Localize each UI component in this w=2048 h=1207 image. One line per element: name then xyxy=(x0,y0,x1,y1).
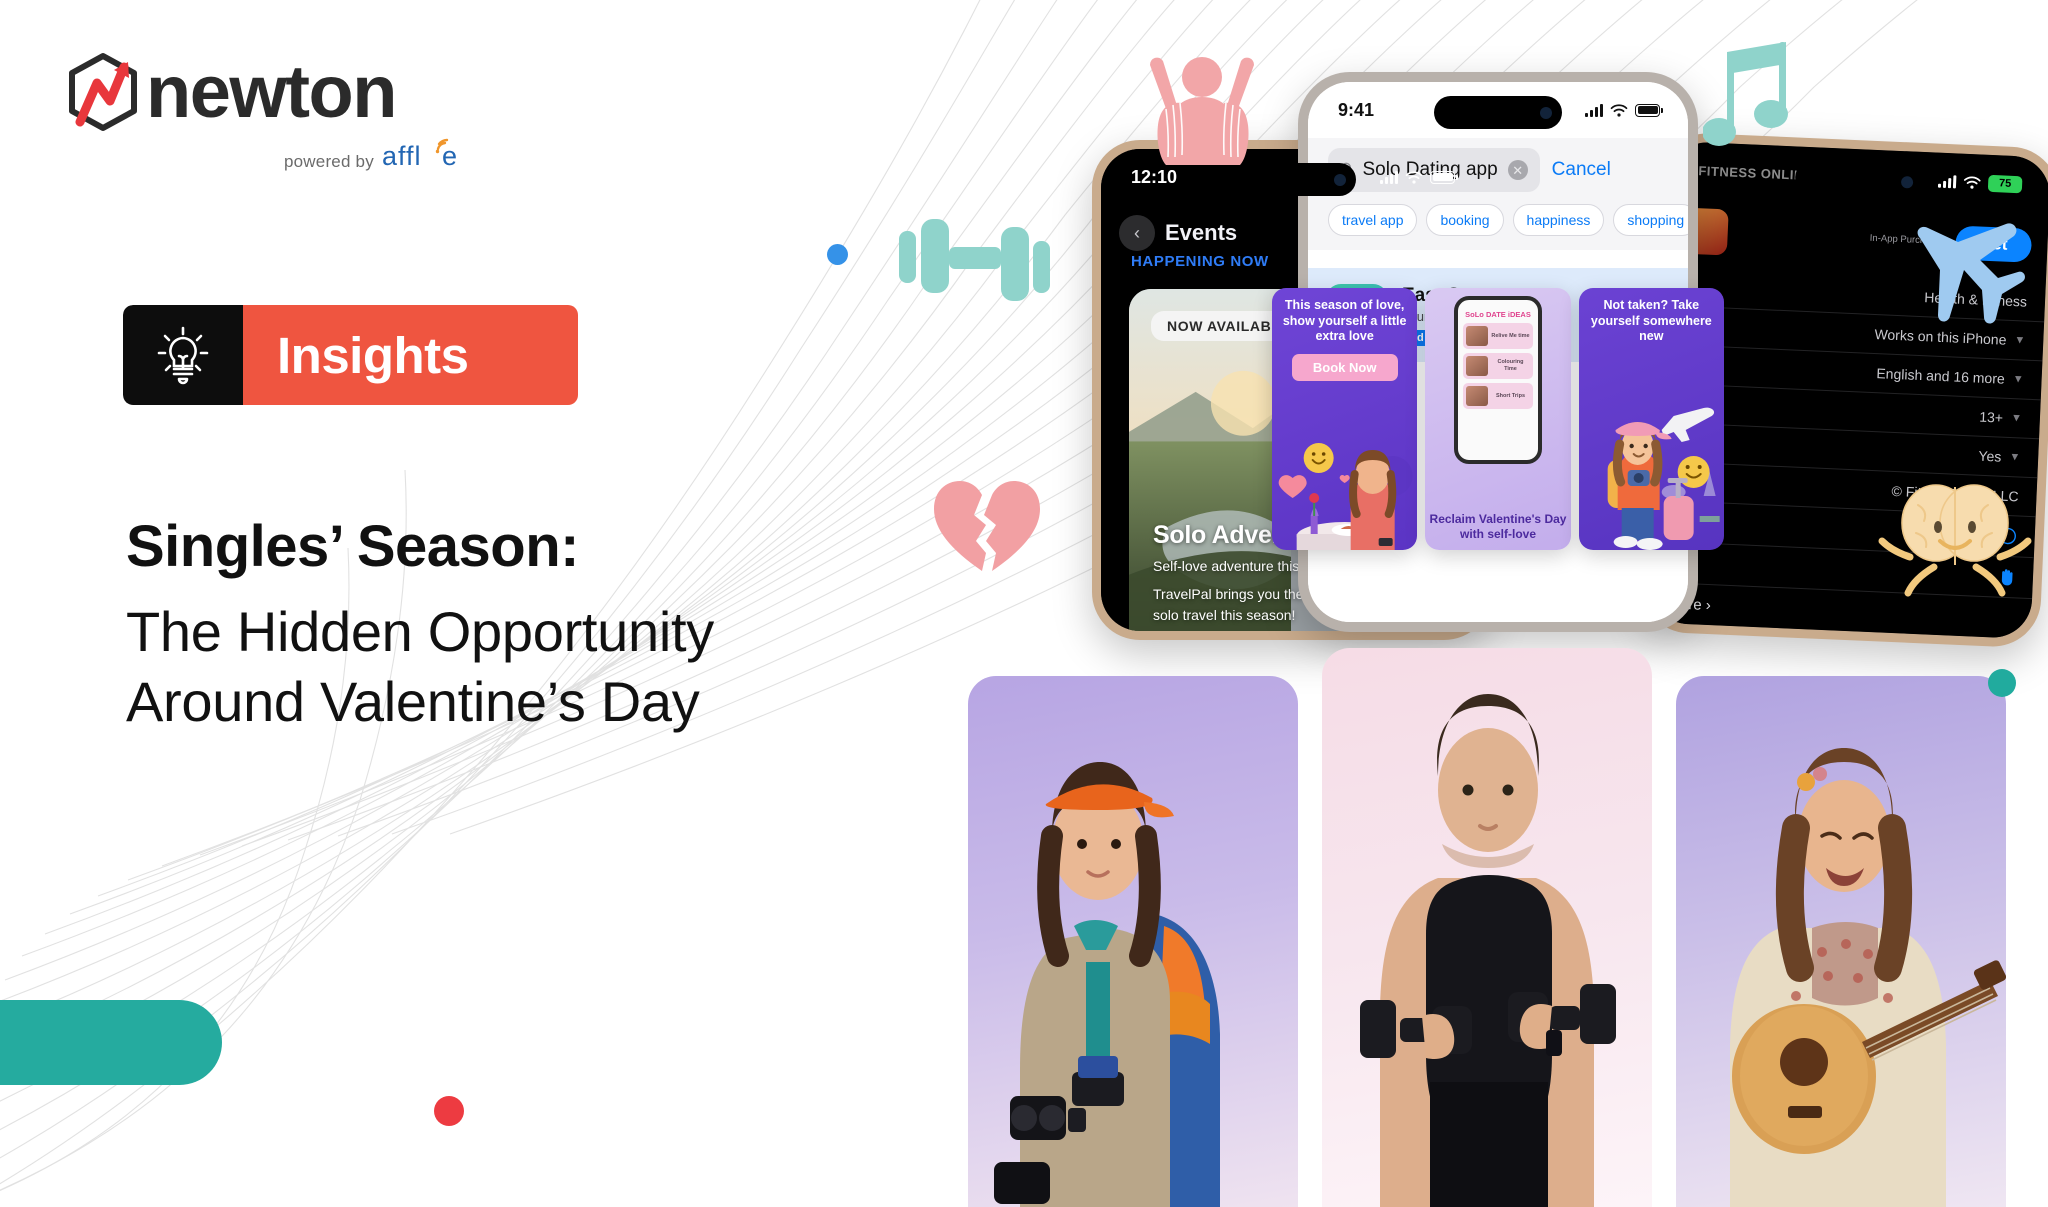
row-value: Yes xyxy=(1978,448,2002,465)
row-value: English and 16 more xyxy=(1876,365,2005,387)
meditating-brain-icon xyxy=(1878,475,2033,605)
woman-dining-alone-illustration xyxy=(1272,430,1417,550)
broken-heart-icon xyxy=(930,475,1040,575)
newton-hexagon-arrow-logo-icon xyxy=(66,52,140,132)
friends-celebrating-icon xyxy=(1120,25,1285,165)
headline-line-2: The Hidden Opportunity xyxy=(126,597,886,668)
cellular-signal-icon xyxy=(1585,104,1603,117)
battery-icon xyxy=(1430,171,1455,184)
chevron-down-icon: ▼ xyxy=(2011,412,2022,424)
chevron-down-icon: ▼ xyxy=(2014,334,2025,346)
cellular-signal-icon xyxy=(1380,171,1398,184)
creative-card-date-ideas[interactable]: SoLo DATE iDEAS Relive Me time Colouring… xyxy=(1425,288,1570,550)
logo-wordmark: newton xyxy=(146,55,396,129)
item-label: Relive Me time xyxy=(1491,333,1530,340)
item-thumbnail xyxy=(1466,326,1488,346)
photo-card-musician xyxy=(1676,676,2006,1207)
cancel-button[interactable]: Cancel xyxy=(1552,159,1611,181)
powered-by-row: powered by affl e xyxy=(284,138,478,172)
page-title: Singles’ Season: The Hidden Opportunity … xyxy=(126,512,886,738)
insights-badge-label: Insights xyxy=(243,305,578,405)
musician-photo xyxy=(1676,676,2006,1207)
photo-card-fitness xyxy=(1322,648,1652,1207)
list-item[interactable]: Relive Me time xyxy=(1463,323,1533,349)
female-traveller-illustration xyxy=(1579,400,1724,550)
search-suggestion-chips: travel app booking happiness shopping on… xyxy=(1328,204,1668,236)
svg-text:e: e xyxy=(442,141,457,171)
red-dot-decoration xyxy=(434,1096,464,1126)
book-now-button[interactable]: Book Now xyxy=(1292,354,1398,381)
item-thumbnail xyxy=(1466,386,1488,406)
clear-circle-icon[interactable]: ✕ xyxy=(1508,160,1528,180)
list-item[interactable]: Colouring Time xyxy=(1463,353,1533,379)
chip-booking[interactable]: booking xyxy=(1426,204,1503,236)
creative-card-travel[interactable]: Not taken? Take yourself somewhere new xyxy=(1579,288,1724,550)
chevron-down-icon: ▼ xyxy=(2012,373,2023,385)
svg-text:affl: affl xyxy=(382,141,422,171)
battery-icon xyxy=(1635,104,1660,117)
creative-footer-text: Reclaim Valentine's Day with self-love xyxy=(1425,512,1570,542)
photo-card-traveller xyxy=(968,676,1298,1207)
chip-travel-app[interactable]: travel app xyxy=(1328,204,1417,236)
creative-headline: This season of love, show yourself a lit… xyxy=(1280,298,1409,345)
item-label: Colouring Time xyxy=(1491,359,1530,373)
phone-left-title: Events xyxy=(1165,220,1237,246)
poster-canvas: newton powered by affl e xyxy=(0,0,2048,1207)
phone-notch xyxy=(1228,163,1356,196)
fitness-photo xyxy=(1322,648,1652,1207)
row-value: 13+ xyxy=(1979,409,2003,426)
airplane-icon xyxy=(1910,212,2035,332)
teal-dot-decoration xyxy=(1988,669,2016,697)
creative-card-self-love[interactable]: This season of love, show yourself a lit… xyxy=(1272,288,1417,550)
mini-phone-title: SoLo DATE iDEAS xyxy=(1458,310,1538,319)
lightbulb-icon xyxy=(152,322,214,388)
wifi-icon xyxy=(1963,175,1982,189)
chip-shopping[interactable]: shopping xyxy=(1613,204,1698,236)
item-label: Short Trips xyxy=(1491,393,1530,400)
chip-happiness[interactable]: happiness xyxy=(1513,204,1605,236)
phone-notch xyxy=(1434,96,1562,129)
music-note-icon xyxy=(1703,38,1813,158)
item-thumbnail xyxy=(1466,356,1488,376)
ad-creative-cards: This season of love, show yourself a lit… xyxy=(1272,288,1724,550)
list-item[interactable]: Short Trips xyxy=(1463,383,1533,409)
headline-line-1: Singles’ Season: xyxy=(126,512,886,583)
cellular-signal-icon xyxy=(1938,174,1957,188)
mini-phone-mockup: SoLo DATE iDEAS Relive Me time Colouring… xyxy=(1454,296,1542,464)
wifi-icon xyxy=(1610,104,1628,117)
phone-notch xyxy=(1795,160,1924,199)
insights-icon-container xyxy=(123,305,243,405)
creative-headline: Not taken? Take yourself somewhere new xyxy=(1587,298,1716,345)
headline-line-3: Around Valentine’s Day xyxy=(126,667,886,738)
insights-badge[interactable]: Insights xyxy=(123,305,578,405)
chevron-down-icon: ▼ xyxy=(2009,451,2020,463)
blue-dot-decoration xyxy=(827,244,848,265)
happening-now-label: HAPPENING NOW xyxy=(1131,253,1269,270)
battery-percent-badge: 75 xyxy=(1988,174,2023,192)
status-time: 12:10 xyxy=(1131,167,1177,188)
status-time: 9:41 xyxy=(1338,100,1374,121)
chevron-left-icon[interactable]: ‹ xyxy=(1119,215,1155,251)
traveller-photo xyxy=(968,676,1298,1207)
brand-logo[interactable]: newton powered by affl e xyxy=(66,52,478,172)
persona-photo-strip xyxy=(960,648,2048,1207)
wifi-icon xyxy=(1405,171,1423,184)
powered-by-label: powered by xyxy=(284,152,374,172)
teal-pill-decoration xyxy=(0,1000,222,1085)
affle-logo-icon: affl e xyxy=(382,138,478,172)
dumbbell-icon xyxy=(893,213,1073,318)
